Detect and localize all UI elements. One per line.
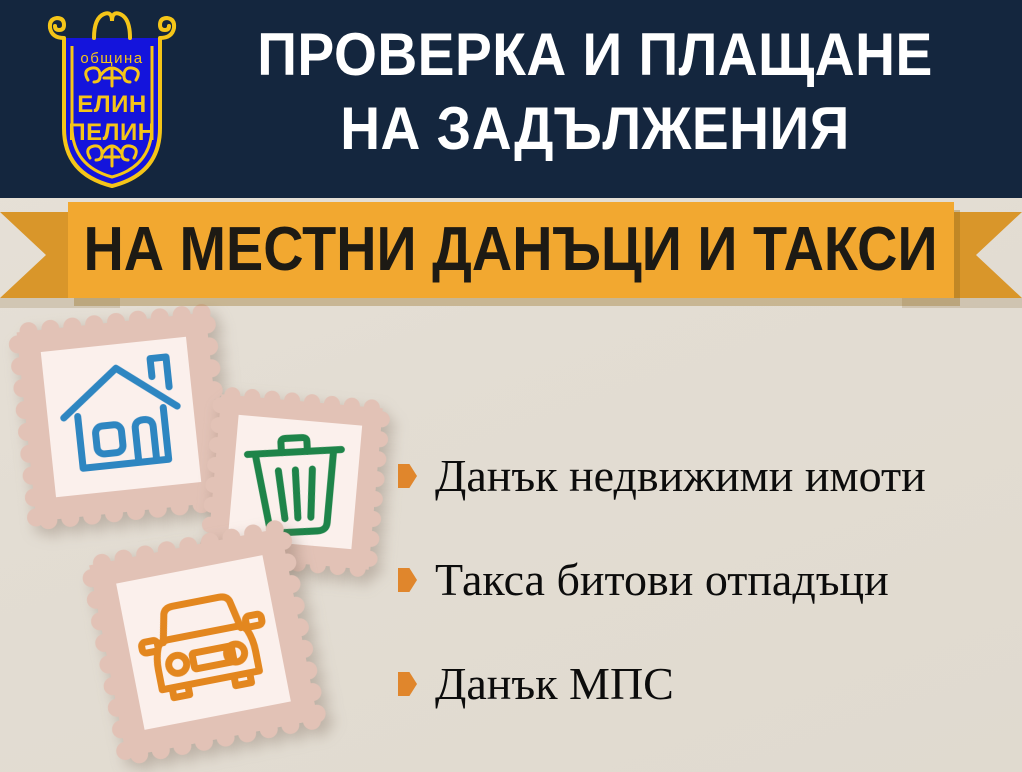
page-title-line2: НА ЗАДЪЛЖЕНИЯ [222, 92, 967, 166]
crest-line-small: община [80, 50, 143, 67]
stamp-car [77, 516, 329, 768]
page-title: ПРОВЕРКА И ПЛАЩАНЕ НА ЗАДЪЛЖЕНИЯ [222, 18, 967, 166]
municipality-crest: община ЕЛИН ПЕЛИН [42, 8, 182, 190]
list-item-label: Данък МПС [435, 658, 674, 710]
ribbon-tail-shadow-left [0, 298, 120, 308]
subtitle-ribbon: НА МЕСТНИ ДАНЪЦИ И ТАКСИ [0, 198, 1022, 308]
tax-type-list: Данък недвижими имоти Такса битови отпад… [398, 424, 1018, 736]
list-item: Такса битови отпадъци [398, 528, 1018, 632]
ribbon-label: НА МЕСТНИ ДАНЪЦИ И ТАКСИ [84, 219, 938, 281]
list-item: Данък МПС [398, 632, 1018, 736]
list-item-label: Данък недвижими имоти [435, 450, 926, 502]
arrow-bullet-icon [398, 464, 417, 488]
stamp-house [6, 302, 237, 533]
page-title-line1: ПРОВЕРКА И ПЛАЩАНЕ [257, 21, 932, 88]
crest-line-main2: ПЕЛИН [68, 119, 155, 146]
house-stamp-graphic [6, 302, 237, 533]
poster-canvas: община ЕЛИН ПЕЛИН [0, 0, 1022, 772]
arrow-bullet-icon [398, 568, 417, 592]
ribbon-tail-shadow-right [902, 298, 1022, 308]
poster-header: община ЕЛИН ПЕЛИН [0, 0, 1022, 198]
ribbon-band: НА МЕСТНИ ДАНЪЦИ И ТАКСИ [68, 202, 954, 298]
list-item: Данък недвижими имоти [398, 424, 1018, 528]
crest-line-main1: ЕЛИН [77, 91, 146, 118]
crest-graphic: община ЕЛИН ПЕЛИН [42, 8, 182, 190]
car-stamp-graphic [77, 516, 329, 768]
arrow-bullet-icon [398, 672, 417, 696]
list-item-label: Такса битови отпадъци [435, 554, 889, 606]
